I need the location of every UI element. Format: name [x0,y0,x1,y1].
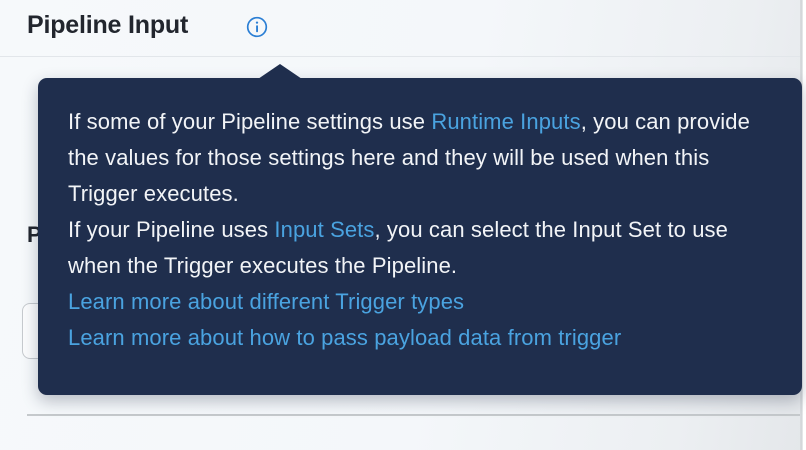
header-divider [0,56,800,57]
learn-more-trigger-types-link[interactable]: Learn more about different Trigger types [68,284,464,320]
info-circle-icon[interactable] [243,13,271,41]
runtime-inputs-link[interactable]: Runtime Inputs [431,109,580,134]
footer-divider [27,414,800,416]
tooltip-paragraph-1: If some of your Pipeline settings use Ru… [68,104,772,212]
tooltip-arrow [258,64,302,79]
page-background: Pipeline Input P If some of your Pipelin… [0,0,806,450]
learn-more-payload-data-link[interactable]: Learn more about how to pass payload dat… [68,320,621,356]
input-sets-link[interactable]: Input Sets [274,217,374,242]
tooltip-p2-text-before: If your Pipeline uses [68,217,274,242]
tooltip-paragraph-2: If your Pipeline uses Input Sets, you ca… [68,212,772,284]
tooltip-p1-text-before: If some of your Pipeline settings use [68,109,431,134]
page-title: Pipeline Input [27,11,188,40]
pipeline-input-tooltip: If some of your Pipeline settings use Ru… [38,78,802,395]
